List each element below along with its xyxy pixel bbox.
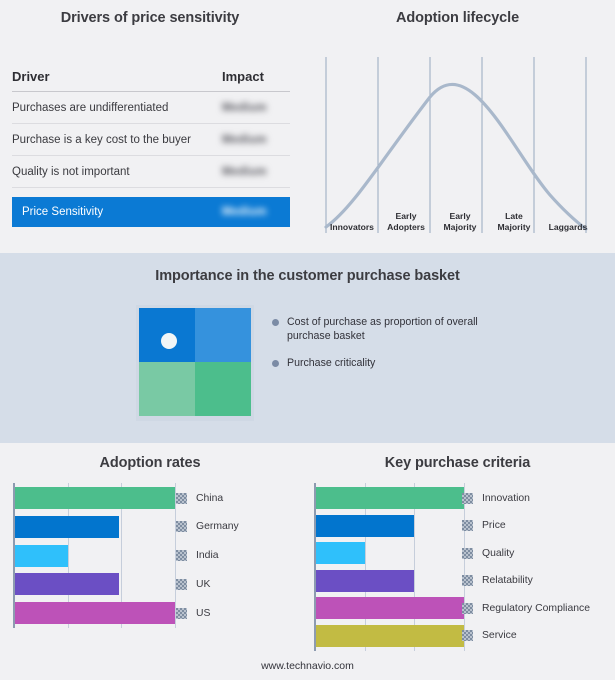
legend-label: UK (196, 579, 210, 590)
legend-label: China (196, 493, 223, 504)
hatched-square-icon (176, 550, 187, 561)
bar-service[interactable] (316, 625, 464, 647)
hatched-square-icon (462, 630, 473, 641)
segment-label-early-majority: EarlyMajority (433, 211, 487, 234)
bullet-dot-icon (272, 319, 279, 326)
segment-label-innovators: Innovators (325, 222, 379, 235)
column-header-driver: Driver (12, 69, 50, 84)
impact-value: Medium (222, 166, 282, 178)
adoption-rates-panel: Adoption rates ChinaGermanyIndiaUKUS (0, 443, 300, 680)
segment-label-early-adopters: EarlyAdopters (379, 211, 433, 234)
quadrant-bottom-left (139, 362, 195, 416)
footer-url: www.technavio.com (0, 660, 615, 672)
legend-item[interactable]: US (176, 602, 296, 624)
bar-regulatory-compliance[interactable] (316, 597, 464, 619)
hatched-square-icon (462, 575, 473, 586)
hatched-square-icon (176, 521, 187, 532)
lifecycle-panel: Adoption lifecycle Innovators EarlyAdopt… (300, 0, 615, 253)
legend-item[interactable]: China (176, 487, 296, 509)
drivers-table: Driver Impact Purchases are undifferenti… (12, 62, 290, 227)
legend-label: Price (482, 520, 506, 531)
bar-uk[interactable] (15, 573, 119, 595)
plot-area (13, 483, 173, 628)
quadrant-top-right (195, 308, 251, 362)
quadrant-diagram (136, 305, 254, 421)
legend-label: Relatability (482, 575, 533, 586)
legend-item[interactable]: Price (462, 515, 612, 537)
adoption-rates-chart (13, 483, 173, 628)
basket-legend: Cost of purchase as proportion of overal… (272, 315, 572, 383)
drivers-title: Drivers of price sensitivity (0, 10, 300, 26)
driver-label: Quality is not important (12, 166, 130, 178)
legend-item[interactable]: Regulatory Compliance (462, 597, 612, 619)
legend-item: Purchase criticality (272, 356, 572, 370)
impact-value: Medium (222, 134, 282, 146)
key-purchase-criteria-chart (314, 483, 462, 651)
bar-group (15, 487, 173, 624)
hatched-square-icon (176, 493, 187, 504)
legend-label: Regulatory Compliance (482, 603, 590, 614)
bar-china[interactable] (15, 487, 175, 509)
bar-group (316, 487, 462, 647)
hatched-square-icon (462, 493, 473, 504)
column-header-impact: Impact (222, 69, 282, 84)
key-purchase-criteria-legend: InnovationPriceQualityRelatabilityRegula… (462, 483, 612, 651)
driver-label: Purchases are undifferentiated (12, 102, 168, 114)
bar-quality[interactable] (316, 542, 365, 564)
legend-item: Cost of purchase as proportion of overal… (272, 315, 572, 343)
hatched-square-icon (462, 520, 473, 531)
driver-label: Purchase is a key cost to the buyer (12, 134, 191, 146)
legend-item[interactable]: Germany (176, 516, 296, 538)
hatched-square-icon (176, 579, 187, 590)
table-row[interactable]: Purchases are undifferentiated Medium (12, 92, 290, 124)
bar-india[interactable] (15, 545, 68, 567)
legend-item[interactable]: India (176, 545, 296, 567)
table-row[interactable]: Purchase is a key cost to the buyer Medi… (12, 124, 290, 156)
lifecycle-segment-labels: Innovators EarlyAdopters EarlyMajority L… (325, 196, 595, 234)
bar-germany[interactable] (15, 516, 119, 538)
bar-price[interactable] (316, 515, 414, 537)
legend-item[interactable]: Relatability (462, 570, 612, 592)
legend-label: Germany (196, 521, 239, 532)
bullet-dot-icon (272, 360, 279, 367)
hatched-square-icon (462, 603, 473, 614)
table-header-row: Driver Impact (12, 62, 290, 92)
legend-item[interactable]: UK (176, 573, 296, 595)
legend-label: Cost of purchase as proportion of overal… (287, 315, 502, 343)
legend-label: Innovation (482, 493, 530, 504)
adoption-rates-title: Adoption rates (0, 455, 300, 471)
legend-item[interactable]: Service (462, 625, 612, 647)
lifecycle-title: Adoption lifecycle (300, 10, 615, 26)
basket-title: Importance in the customer purchase bask… (0, 268, 615, 284)
hatched-square-icon (462, 548, 473, 559)
legend-label: Purchase criticality (287, 356, 375, 370)
hatched-square-icon (176, 608, 187, 619)
segment-label-laggards: Laggards (541, 222, 595, 235)
key-purchase-criteria-title: Key purchase criteria (300, 455, 615, 471)
impact-value: Medium (222, 206, 282, 218)
segment-label-late-majority: LateMajority (487, 211, 541, 234)
table-row-highlighted[interactable]: Price Sensitivity Medium (12, 197, 290, 227)
plot-area (314, 483, 462, 651)
bar-innovation[interactable] (316, 487, 464, 509)
position-marker-dot (161, 333, 177, 349)
basket-panel: Importance in the customer purchase bask… (0, 253, 615, 443)
driver-label: Price Sensitivity (22, 206, 103, 218)
legend-label: US (196, 608, 210, 619)
impact-value: Medium (222, 102, 282, 114)
bar-us[interactable] (15, 602, 175, 624)
quadrant-bottom-right (195, 362, 251, 416)
drivers-panel: Drivers of price sensitivity Driver Impa… (0, 0, 300, 253)
legend-label: India (196, 550, 219, 561)
key-purchase-criteria-panel: Key purchase criteria InnovationPriceQua… (300, 443, 615, 680)
bar-relatability[interactable] (316, 570, 414, 592)
legend-label: Quality (482, 548, 514, 559)
adoption-rates-legend: ChinaGermanyIndiaUKUS (176, 483, 296, 628)
legend-label: Service (482, 630, 517, 641)
legend-item[interactable]: Innovation (462, 487, 612, 509)
table-row[interactable]: Quality is not important Medium (12, 156, 290, 188)
legend-item[interactable]: Quality (462, 542, 612, 564)
